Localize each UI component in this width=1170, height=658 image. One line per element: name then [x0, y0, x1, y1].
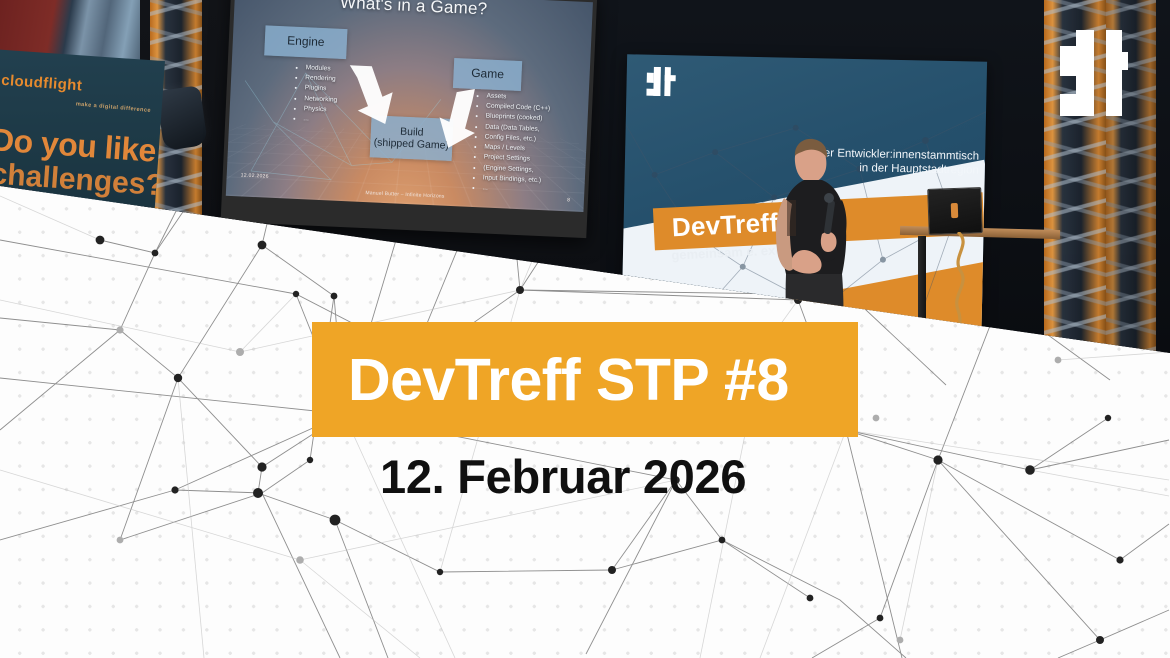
event-poster: cloudflight make a digital difference Do…: [0, 0, 1170, 658]
title-banner: DevTreff STP #8: [312, 322, 858, 437]
stage-spotlight: [156, 85, 208, 151]
backdrop-subtitle-line2: in der Hauptstadtregion: [859, 162, 979, 177]
event-date: 12. Februar 2026: [380, 449, 746, 504]
slide-date: 12.02.2026: [241, 172, 269, 179]
slide-page-number: 8: [567, 197, 570, 203]
cloudflight-tagline: make a digital difference: [76, 101, 152, 114]
dt-logo-icon: [646, 67, 677, 102]
laptop: [927, 187, 983, 235]
cloudflight-logo: cloudflight: [1, 72, 83, 95]
sponsor-banner-cloudflight: cloudflight make a digital difference Do…: [0, 49, 165, 211]
projection-screen: What's in a Game? Engine Game Build (shi…: [221, 0, 598, 238]
page-title: DevTreff STP #8: [348, 346, 789, 414]
dt-logo-icon: [1060, 30, 1128, 130]
slide-arrows-icon: [226, 0, 593, 212]
presentation-slide: What's in a Game? Engine Game Build (shi…: [226, 0, 593, 212]
